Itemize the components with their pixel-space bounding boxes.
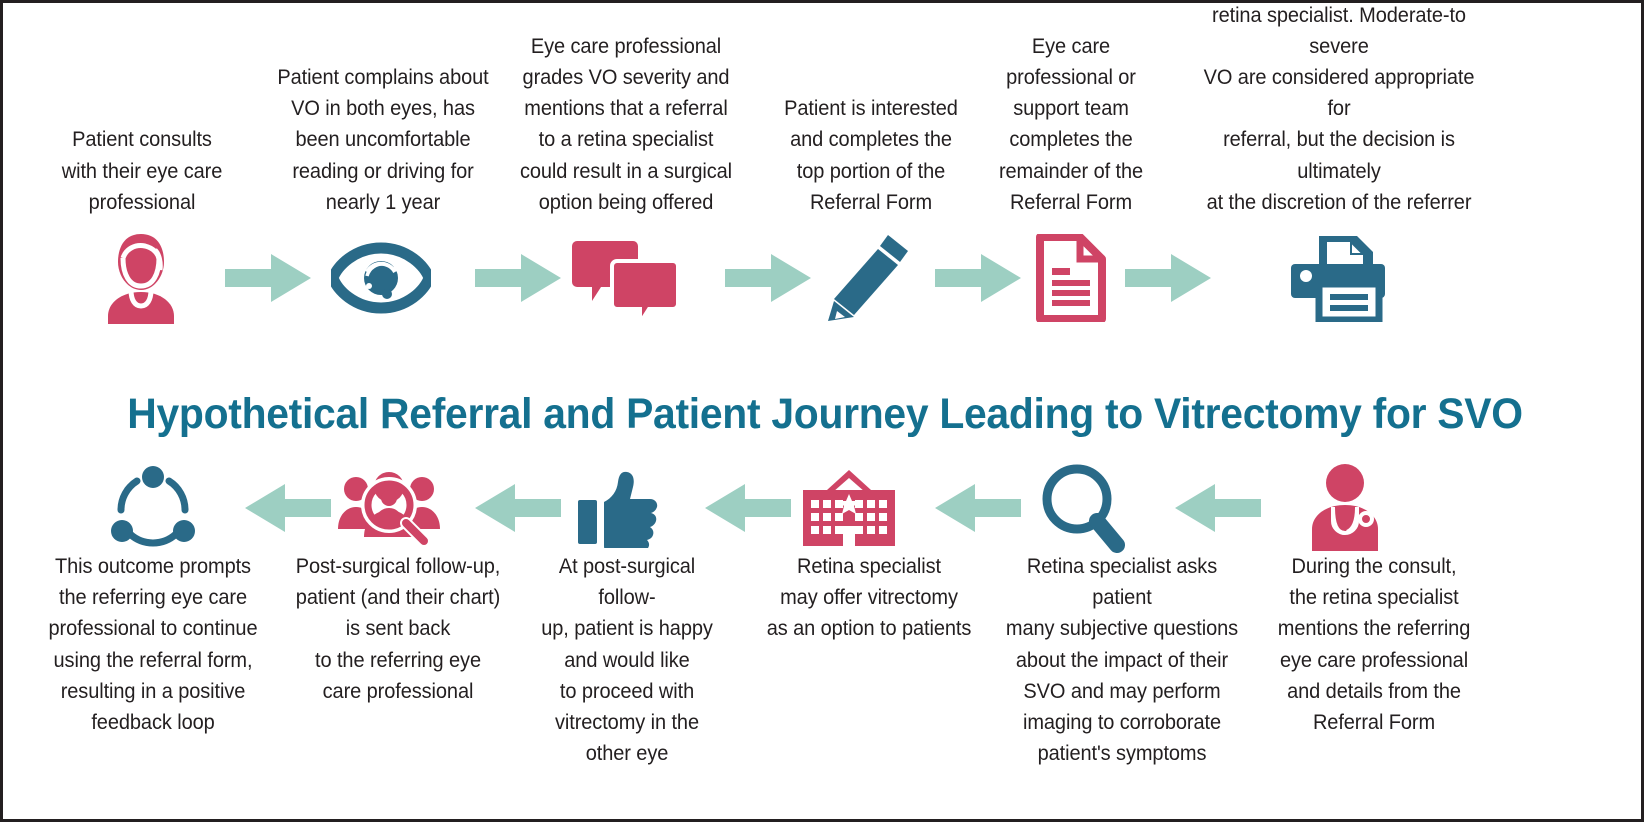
arrow-right-icon xyxy=(475,252,561,304)
bottom-arrow-2 xyxy=(463,453,573,563)
top-row-text-group: Patient consults with their eye care pro… xyxy=(3,3,1644,218)
top-icon-2-eye xyxy=(321,223,441,333)
arrow-left-icon xyxy=(935,482,1021,534)
doctor-icon xyxy=(1302,463,1388,553)
top-step-text-5: Eye care professional or support team co… xyxy=(998,13,1143,218)
patient-person-icon xyxy=(98,232,184,324)
bottom-row-text-group: This outcome prompts the referring eye c… xyxy=(3,551,1644,801)
group-review-icon xyxy=(336,467,442,549)
magnifier-icon xyxy=(1039,463,1127,553)
pencil-icon xyxy=(826,233,912,323)
top-icon-4-pencil xyxy=(809,223,929,333)
top-arrow-2 xyxy=(463,223,573,333)
arrow-right-icon xyxy=(1125,252,1211,304)
feedback-loop-icon xyxy=(109,464,197,552)
arrow-left-icon xyxy=(705,482,791,534)
bottom-row-icon-group xyxy=(3,453,1644,563)
bottom-icon-2-group-review xyxy=(329,453,449,563)
top-arrow-3 xyxy=(713,223,823,333)
arrow-right-icon xyxy=(225,252,311,304)
top-step-text-3: Eye care professional grades VO severity… xyxy=(514,13,737,218)
bottom-icon-1-feedback-loop xyxy=(93,453,213,563)
speech-bubbles-icon xyxy=(571,237,679,319)
top-icon-3-speech-bubbles xyxy=(565,223,685,333)
top-step-text-6: Form is attached to the patient's chart … xyxy=(1194,13,1484,218)
document-form-icon xyxy=(1036,234,1106,322)
bottom-arrow-1 xyxy=(233,453,343,563)
top-step-text-1: Patient consults with their eye care pro… xyxy=(35,13,249,218)
bottom-arrow-4 xyxy=(923,453,1033,563)
bottom-step-text-4: Retina specialist may offer vitrectomy a… xyxy=(759,551,978,645)
arrow-right-icon xyxy=(725,252,811,304)
bottom-step-text-2: Post-surgical follow-up, patient (and th… xyxy=(284,551,513,707)
bottom-arrow-5 xyxy=(1163,453,1273,563)
top-arrow-1 xyxy=(213,223,323,333)
fax-machine-icon xyxy=(1289,234,1393,322)
arrow-left-icon xyxy=(475,482,561,534)
arrow-left-icon xyxy=(1175,482,1261,534)
top-step-text-2: Patient complains about VO in both eyes,… xyxy=(273,13,492,218)
eye-floaters-icon xyxy=(331,242,431,314)
bottom-step-text-1: This outcome prompts the referring eye c… xyxy=(41,551,264,738)
bottom-icon-3-thumbs-up xyxy=(558,453,678,563)
top-icon-6-fax xyxy=(1281,223,1401,333)
bottom-step-text-3: At post-surgical follow- up, patient is … xyxy=(536,551,718,769)
top-arrow-5 xyxy=(1113,223,1223,333)
bottom-step-text-6: During the consult, the retina specialis… xyxy=(1269,551,1479,738)
arrow-left-icon xyxy=(245,482,331,534)
bottom-arrow-3 xyxy=(693,453,803,563)
page-title: Hypothetical Referral and Patient Journe… xyxy=(44,390,1606,439)
bottom-step-text-5: Retina specialist asks patient many subj… xyxy=(1004,551,1240,769)
arrow-right-icon xyxy=(935,252,1021,304)
top-row-icon-group xyxy=(3,223,1644,333)
top-step-text-4: Patient is interested and completes the … xyxy=(771,13,972,218)
bottom-icon-5-magnifier xyxy=(1023,453,1143,563)
infographic-canvas: Patient consults with their eye care pro… xyxy=(0,0,1644,822)
top-icon-1-patient-person xyxy=(81,223,201,333)
thumbs-up-icon xyxy=(576,468,660,548)
bottom-icon-6-doctor xyxy=(1285,453,1405,563)
bottom-icon-4-hospital xyxy=(789,453,909,563)
hospital-icon xyxy=(801,468,897,548)
